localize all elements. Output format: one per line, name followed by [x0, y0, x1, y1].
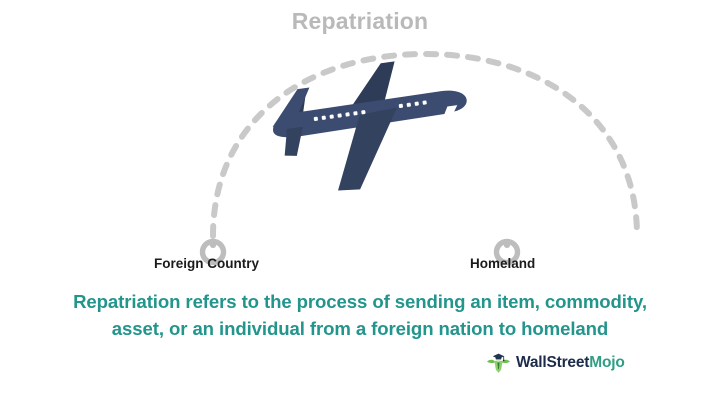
caption: Repatriation refers to the process of se…	[28, 288, 692, 342]
dashed-arc-path	[213, 54, 637, 236]
wallstreetmojo-graduate-icon	[486, 351, 511, 376]
endpoint-label-foreign-country: Foreign Country	[154, 256, 259, 272]
wallstreetmojo-logo: WallStreetMojo	[486, 350, 625, 376]
flight-path-illustration	[0, 40, 720, 280]
caption-line-2: asset, or an individual from a foreign n…	[28, 315, 692, 342]
illustration-stage	[0, 40, 720, 280]
endpoint-label-homeland: Homeland	[470, 256, 535, 272]
logo-wordmark: WallStreetMojo	[516, 354, 625, 372]
caption-line-1: Repatriation refers to the process of se…	[28, 288, 692, 315]
airplane-icon	[266, 52, 477, 200]
infographic-canvas: Repatriation	[0, 0, 720, 404]
logo-primary-text: WallStreet	[516, 354, 589, 371]
page-title: Repatriation	[0, 6, 720, 36]
logo-accent-text: Mojo	[589, 354, 624, 371]
